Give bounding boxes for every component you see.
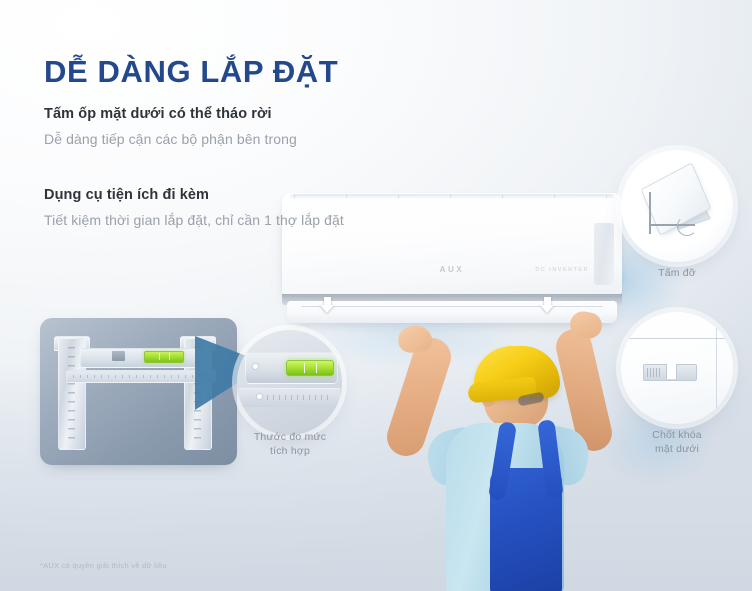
- bracket-center-box: [112, 351, 125, 361]
- callout-label-bottom-latch-line2: mặt dưới: [618, 442, 736, 456]
- plate-rotation-arc-icon: [677, 216, 697, 236]
- callout-label-bottom-latch: Chốt khóa mặt dưới: [618, 428, 736, 457]
- ac-brand-logo: AUX: [440, 265, 465, 274]
- level-screw-b: [257, 394, 262, 399]
- level-vial-icon: [286, 360, 334, 376]
- level-screw-a: [253, 364, 258, 369]
- callout-label-spirit-level: Thước đo mức tích hợp: [225, 430, 355, 459]
- spirit-level-icon: [144, 351, 184, 363]
- technician-illustration: [398, 318, 648, 591]
- feature-2-subtitle: Tiết kiệm thời gian lắp đặt, chỉ cần 1 t…: [44, 210, 344, 231]
- latch-clip-icon: [643, 364, 697, 381]
- latch-panel-surface: [621, 312, 733, 424]
- callout-badge-spirit-level: [237, 330, 342, 435]
- callout-label-bottom-latch-line1: Chốt khóa: [618, 428, 736, 442]
- footnote-disclaimer: *AUX có quyền giải thích về dữ liệu: [40, 561, 167, 570]
- latch-panel-edge: [716, 312, 717, 424]
- page-title: DỄ DÀNG LẮP ĐẶT: [44, 55, 338, 89]
- spirit-level-detail-art: [237, 330, 342, 435]
- level-rail-upper: [245, 352, 338, 384]
- callout-label-spirit-level-line2: tích hợp: [225, 444, 355, 458]
- plate-axis-vertical: [649, 192, 651, 234]
- level-rail-lower: [239, 388, 340, 407]
- latch-panel-seam: [621, 338, 727, 339]
- callout-badge-mounting-plate: [621, 150, 733, 262]
- feature-block-2: Dụng cụ tiện ích đi kèm Tiết kiệm thời g…: [44, 185, 344, 231]
- callout-label-mounting-plate: Tấm đỡ: [621, 266, 733, 280]
- poster-canvas: DỄ DÀNG LẮP ĐẶT Tấm ốp mặt dưới có thể t…: [0, 0, 752, 591]
- callout-badge-bottom-latch: [621, 312, 733, 424]
- ac-side-grill: [594, 223, 614, 285]
- ac-panel-seam: [301, 306, 603, 307]
- feature-block-1: Tấm ốp mặt dưới có thể tháo rời Dễ dàng …: [44, 104, 297, 150]
- callout-label-spirit-level-line1: Thước đo mức: [225, 430, 355, 444]
- feature-1-title: Tấm ốp mặt dưới có thể tháo rời: [44, 104, 297, 125]
- feature-1-subtitle: Dễ dàng tiếp cận các bộ phận bên trong: [44, 129, 297, 150]
- bracket-second-rail: [66, 370, 216, 383]
- feature-2-title: Dụng cụ tiện ích đi kèm: [44, 185, 344, 206]
- mounting-plate-icon: [641, 168, 713, 240]
- ac-model-text: DC INVERTER: [535, 267, 589, 273]
